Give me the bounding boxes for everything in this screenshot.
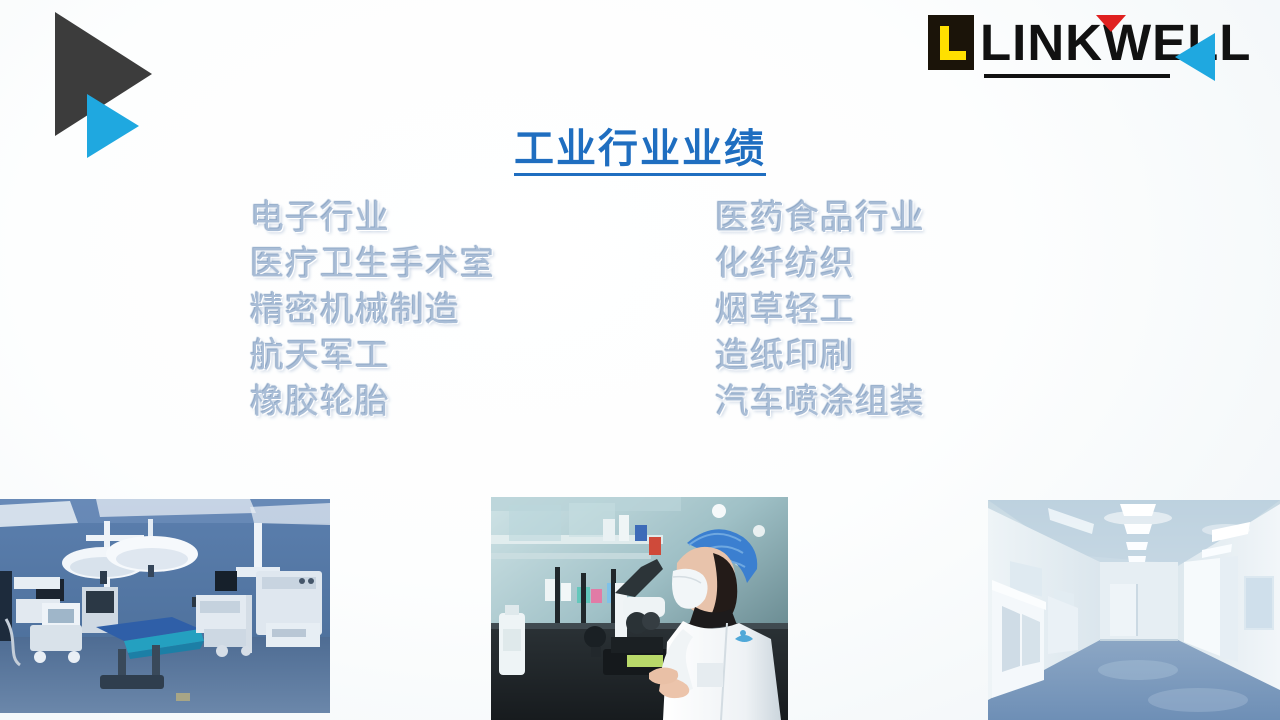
page-title: 工业行业业绩 (0, 116, 1280, 174)
linkwell-logo: LINKWELL (928, 12, 1244, 84)
list-item: 电子行业 (250, 196, 495, 242)
logo-mark-box (928, 15, 974, 70)
industry-column-right: 医药食品行业 化纤纺织 烟草轻工 造纸印刷 汽车喷涂组装 (715, 196, 925, 426)
list-item: 造纸印刷 (715, 334, 925, 380)
list-item: 汽车喷涂组装 (715, 380, 925, 426)
industry-column-left: 电子行业 医疗卫生手术室 精密机械制造 航天军工 橡胶轮胎 (250, 196, 495, 426)
logo-underline (984, 74, 1170, 78)
list-item: 烟草轻工 (715, 288, 925, 334)
industry-lists: 电子行业 医疗卫生手术室 精密机械制造 航天军工 橡胶轮胎 医药食品行业 化纤纺… (0, 196, 1280, 446)
list-item: 精密机械制造 (250, 288, 495, 334)
operating-room-photo (0, 499, 330, 713)
cleanroom-corridor-photo (988, 500, 1280, 720)
laboratory-microscope-photo (491, 497, 788, 720)
cyan-triangle-left-icon (1175, 33, 1215, 81)
list-item: 医疗卫生手术室 (250, 242, 495, 288)
list-item: 航天军工 (250, 334, 495, 380)
logo-mark-l-icon (940, 26, 966, 60)
page-title-text: 工业行业业绩 (514, 126, 766, 176)
list-item: 化纤纺织 (715, 242, 925, 288)
list-item: 橡胶轮胎 (250, 380, 495, 426)
red-triangle-icon (1096, 15, 1126, 32)
list-item: 医药食品行业 (715, 196, 925, 242)
slide-root: LINKWELL 工业行业业绩 电子行业 医疗卫生手术室 精密机械制造 航天军工… (0, 0, 1280, 720)
